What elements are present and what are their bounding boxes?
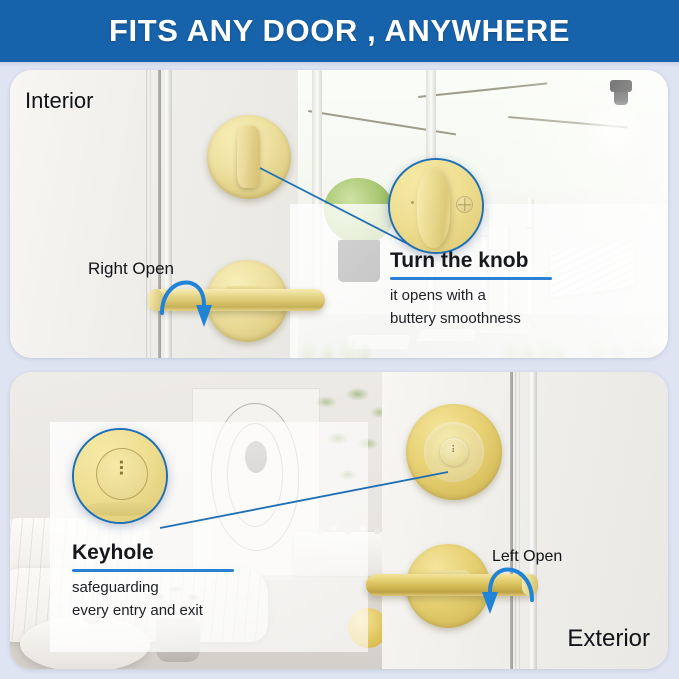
- keyway-slot: ⠇: [451, 446, 458, 456]
- panel-interior: Interior Right Open Turn the knob it ope…: [10, 70, 668, 358]
- callout-underline: [72, 569, 234, 572]
- magnifier-circle-knob-icon: [388, 158, 484, 254]
- panel-side-label-interior: Interior: [25, 88, 93, 114]
- banner-title: FITS ANY DOOR , ANYWHERE: [109, 13, 570, 49]
- key-cylinder: ⠇: [440, 438, 468, 466]
- panel-exterior: ⠇ ⠇ Exterior Left Open Keyhole: [10, 372, 668, 669]
- callout-underline: [390, 277, 552, 280]
- callout-connector-line-icon: [160, 472, 460, 532]
- thumbturn-knob: [237, 126, 260, 188]
- callout-body-line-1: it opens with a: [390, 285, 658, 306]
- phillips-screw-icon: [456, 196, 473, 213]
- knob-detent-dot: [411, 201, 414, 204]
- callout-turn-the-knob: Turn the knob it opens with a buttery sm…: [390, 250, 658, 330]
- callout-keyhole: Keyhole safeguarding every entry and exi…: [72, 542, 332, 622]
- banner-divider: [0, 62, 679, 67]
- door-jamb-edge: [146, 70, 151, 358]
- door-jamb-edge: [515, 372, 520, 669]
- callout-heading: Turn the knob: [390, 250, 658, 272]
- door-casing: [528, 372, 537, 669]
- header-banner: FITS ANY DOOR , ANYWHERE: [0, 0, 679, 62]
- panel-side-label-exterior: Exterior: [567, 625, 650, 653]
- callout-body-line-1: safeguarding: [72, 577, 332, 598]
- knob-closeup-turn: [417, 168, 450, 248]
- keyway-slot: ⠇: [117, 460, 132, 480]
- callout-heading: Keyhole: [72, 542, 332, 564]
- door-gap-shadow: [510, 372, 513, 669]
- callout-body-line-2: every entry and exit: [72, 600, 332, 621]
- magnifier-circle-keyhole-icon: ⠇: [72, 428, 168, 524]
- open-direction-label-left: Left Open: [492, 548, 562, 566]
- cylinder-closeup-base: [82, 502, 158, 516]
- callout-body-line-2: buttery smoothness: [390, 308, 658, 329]
- open-direction-label-right: Right Open: [88, 259, 174, 279]
- product-infographic: FITS ANY DOOR , ANYWHERE: [0, 0, 679, 679]
